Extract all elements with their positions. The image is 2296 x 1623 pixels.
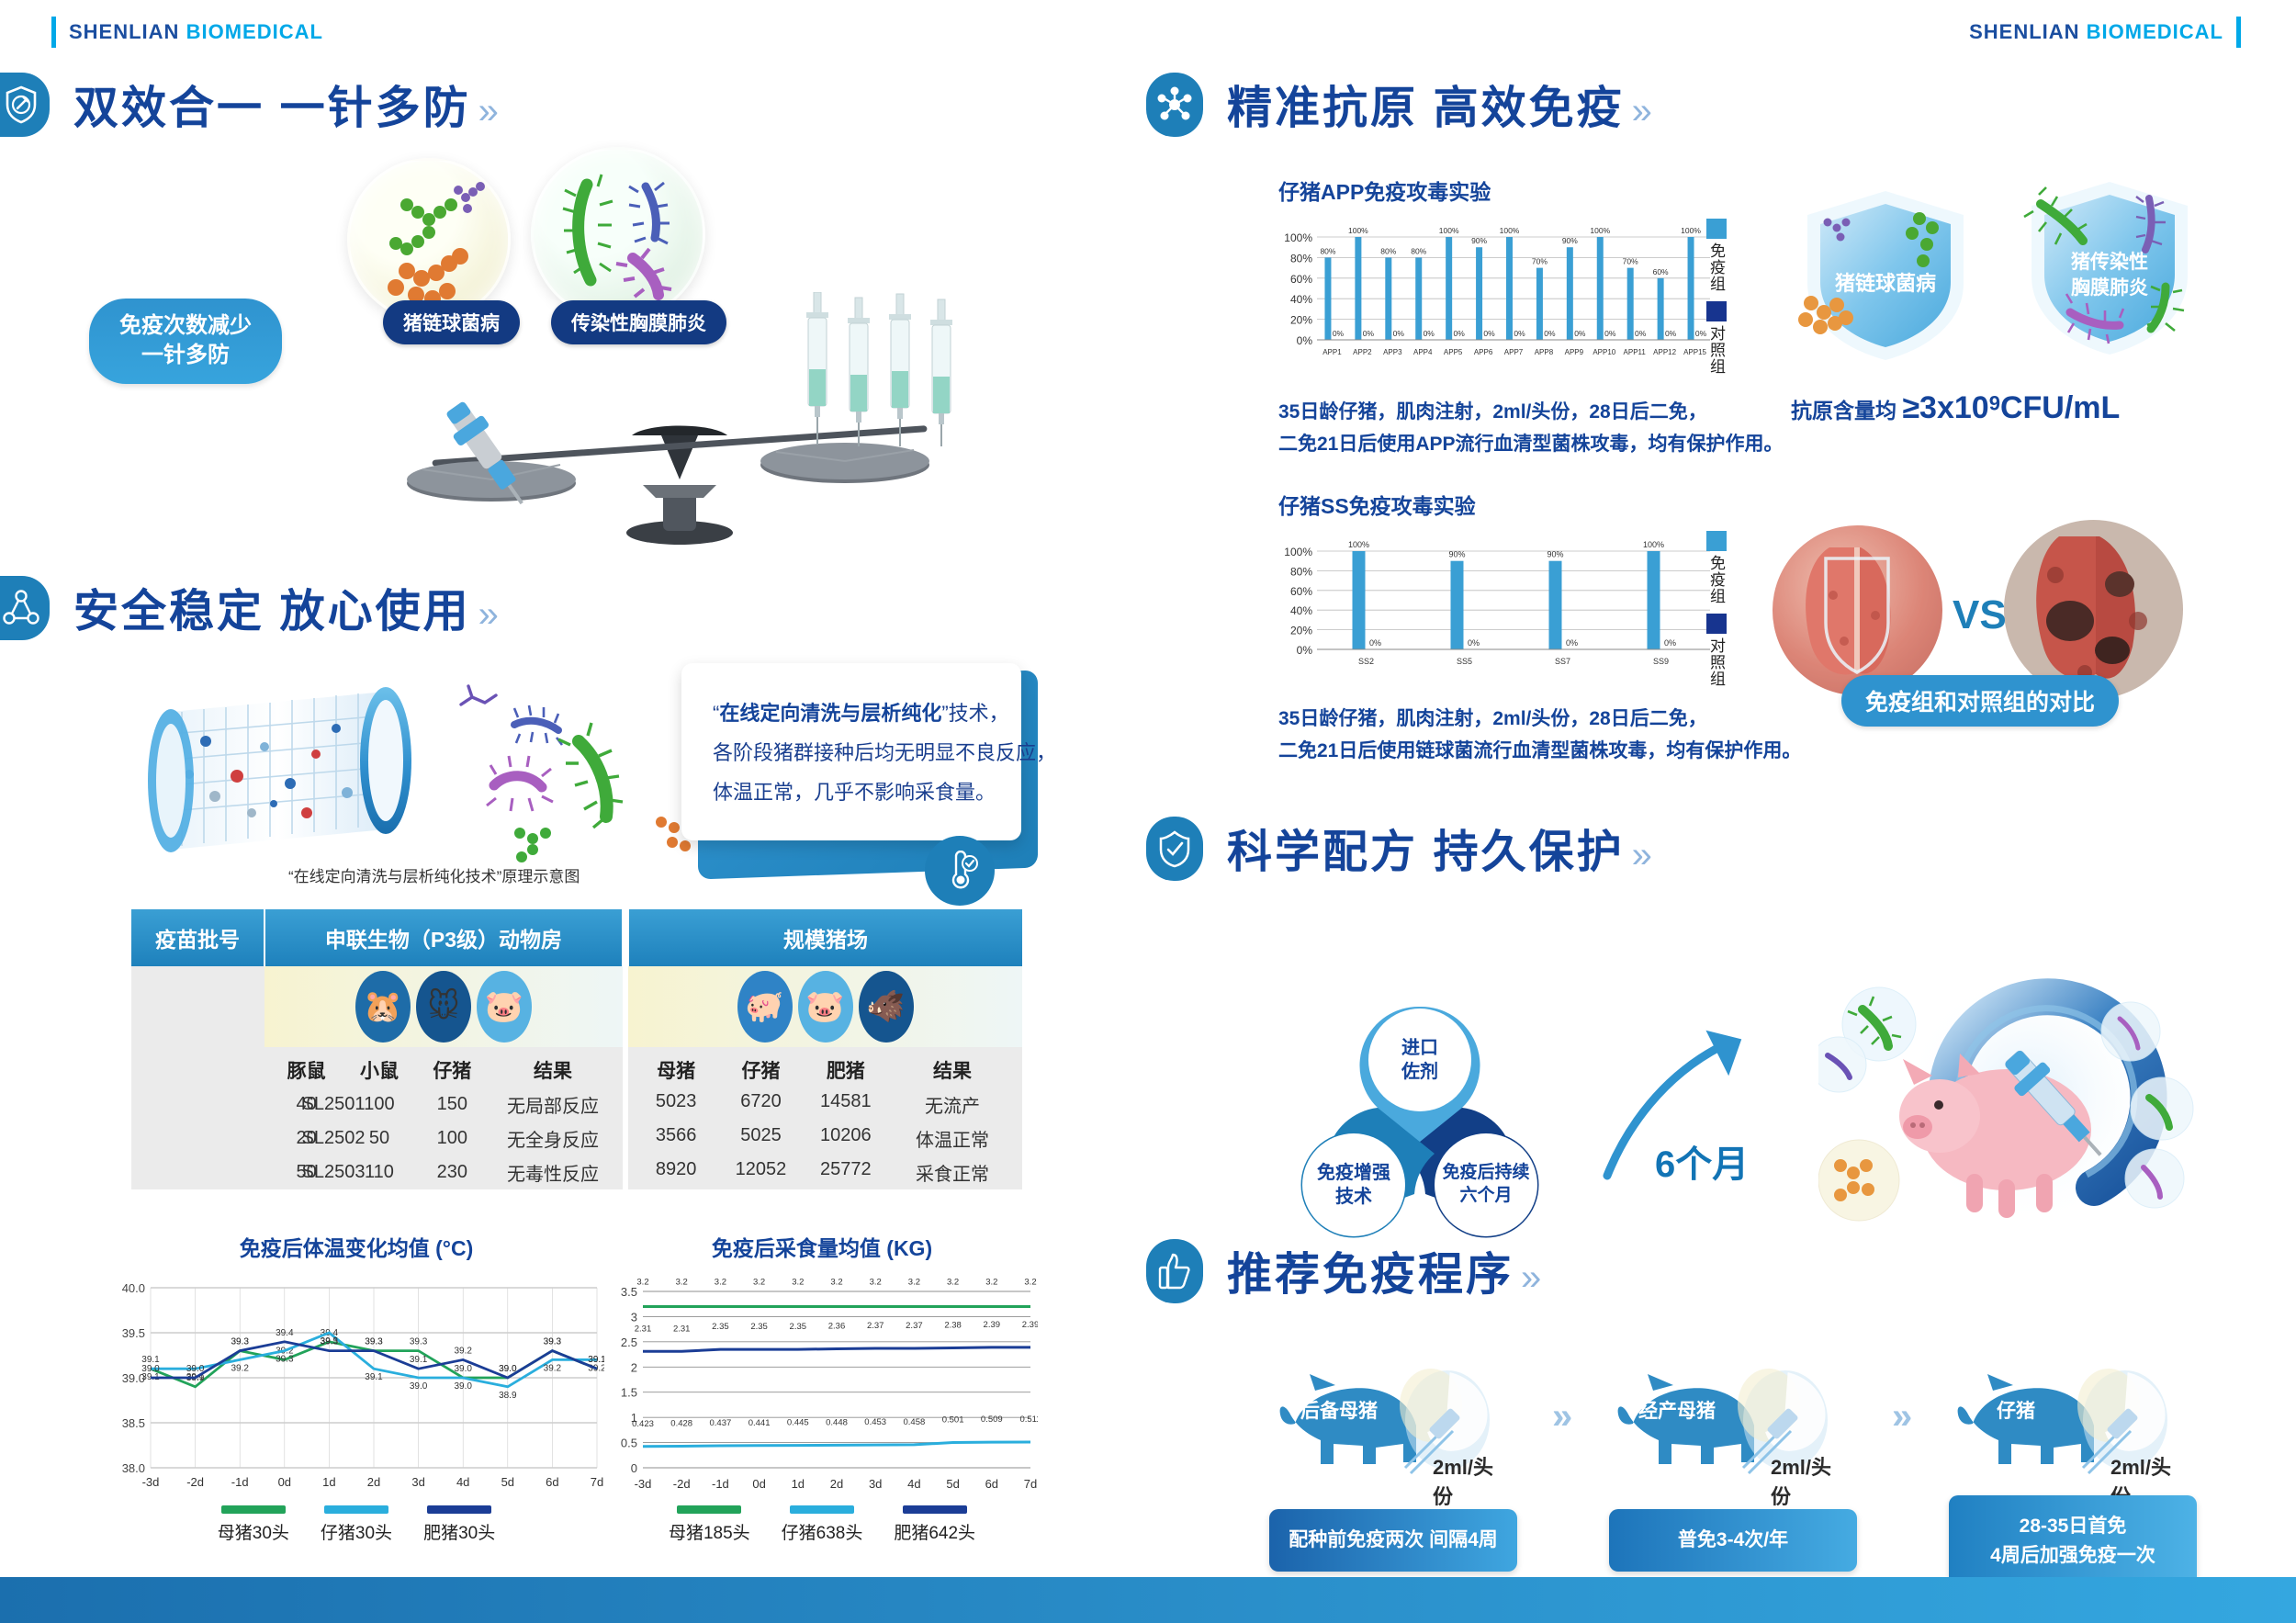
antigen-value: ≥3x10 bbox=[1902, 390, 1988, 425]
row-farm-0: 5023 6720 14581 无流产 bbox=[628, 1088, 1022, 1121]
svg-text:39.2: 39.2 bbox=[454, 1346, 472, 1356]
row-farm-2-2: 25772 bbox=[804, 1159, 888, 1186]
svg-text:2.35: 2.35 bbox=[790, 1322, 807, 1332]
formula-node-adjuvant-line2: 佐剂 bbox=[1401, 1060, 1438, 1084]
feed-chart: 免疫后采食量均值 (KG) 00.511.522.533.5-3d-2d-1d0… bbox=[606, 1231, 1038, 1544]
app-chart-plot: 0%20%40%60%80%100%APP180%0%APP2100%0%APP… bbox=[1278, 222, 1719, 360]
section-chevron-5: » bbox=[1521, 1257, 1544, 1298]
legend-item: 仔猪638头 bbox=[782, 1505, 863, 1544]
callout-quote-close: ” bbox=[941, 702, 948, 725]
svg-text:40.0: 40.0 bbox=[122, 1281, 145, 1295]
hero-badge-line1: 免疫次数减少 bbox=[113, 311, 258, 341]
row-body-2: SL2503 50 110 230 无毒性反应 bbox=[264, 1155, 623, 1189]
program-separator-1: » bbox=[1552, 1396, 1572, 1437]
section-title-text-1: 双效合一 一针多防 bbox=[73, 84, 471, 133]
callout-line-1: “在线定向清洗与层析纯化”技术， bbox=[713, 694, 990, 734]
section-header-antigen: 精准抗原 高效免疫» bbox=[1154, 72, 1655, 137]
table-header-batch: 疫苗批号 bbox=[131, 909, 264, 966]
svg-text:39.5: 39.5 bbox=[122, 1326, 145, 1340]
svg-text:0.423: 0.423 bbox=[632, 1419, 654, 1429]
program-step-1-pill-line1: 普免3-4次/年 bbox=[1618, 1526, 1848, 1555]
brand-name-part1-right: SHENLIAN bbox=[1969, 20, 2079, 43]
row-farm-result-2: 采食正常 bbox=[888, 1159, 1017, 1186]
svg-text:0%: 0% bbox=[1544, 329, 1556, 338]
svg-text:4d: 4d bbox=[907, 1477, 920, 1491]
feed-chart-plot: 00.511.522.533.5-3d-2d-1d0d1d2d3d4d5d6d7… bbox=[606, 1271, 1038, 1492]
mouse-icon: 🐭 bbox=[416, 971, 471, 1043]
table-header-row: 疫苗批号 申联生物（P3级）动物房 规模猪场 bbox=[131, 909, 1022, 966]
section-chevron-4: » bbox=[1632, 835, 1655, 875]
antigen-prefix: 抗原含量均 bbox=[1791, 399, 1896, 423]
svg-text:38.9: 38.9 bbox=[499, 1391, 517, 1401]
ss-chart-legend: 免疫组 对照组 bbox=[1705, 531, 1728, 687]
svg-text:90%: 90% bbox=[1547, 550, 1563, 559]
svg-text:0%: 0% bbox=[1604, 329, 1616, 338]
section-chevron-2: » bbox=[478, 594, 501, 635]
table-row: SL2501 40 100 150 无局部反应 5023 6720 14581 … bbox=[131, 1088, 1022, 1121]
svg-text:39.2: 39.2 bbox=[231, 1363, 249, 1373]
legend-item: 母猪185头 bbox=[669, 1505, 750, 1544]
svg-text:90%: 90% bbox=[1448, 550, 1465, 559]
farm-subheader-2: 肥猪 bbox=[804, 1056, 888, 1084]
svg-text:100%: 100% bbox=[1500, 226, 1520, 235]
formula-trefoil-diagram: 进口 佐剂 免疫增强 技术 免疫后持续 六个月 bbox=[1282, 981, 1558, 1261]
svg-text:60%: 60% bbox=[1290, 585, 1312, 598]
svg-text:39.1: 39.1 bbox=[588, 1355, 604, 1365]
svg-text:20%: 20% bbox=[1290, 314, 1312, 327]
section-title-antigen: 精准抗原 高效免疫» bbox=[1227, 72, 1655, 137]
lab-subheader-0: 豚鼠 bbox=[270, 1056, 343, 1084]
footer-bar bbox=[0, 1577, 2296, 1623]
ss-chart-title: 仔猪SS免疫攻毒实验 bbox=[1278, 489, 1756, 520]
svg-text:APP2: APP2 bbox=[1353, 348, 1372, 356]
program-step-piglet: 仔猪 2ml/头份 bbox=[1945, 1348, 2184, 1500]
lab-result-header: 结果 bbox=[489, 1056, 617, 1084]
shield-label-pleuro-2: 胸膜肺炎 bbox=[2071, 276, 2148, 299]
row-farm-0-2: 14581 bbox=[804, 1091, 888, 1118]
section-title-program: 推荐免疫程序» bbox=[1227, 1238, 1544, 1303]
row-batch-1: SL2502 bbox=[274, 1128, 393, 1149]
svg-text:0%: 0% bbox=[1664, 638, 1676, 648]
row-farm-result-1: 体温正常 bbox=[888, 1125, 1017, 1152]
ss-chart-plot: 0%20%40%60%80%100%SS2100%0%SS590%0%SS790… bbox=[1278, 536, 1719, 670]
svg-text:2d: 2d bbox=[367, 1475, 380, 1489]
svg-text:3.2: 3.2 bbox=[908, 1277, 920, 1287]
shield-pleuropneumonia: 猪传染性 胸膜肺炎 bbox=[2013, 175, 2206, 367]
row-farm-1-2: 10206 bbox=[804, 1125, 888, 1152]
svg-text:2.36: 2.36 bbox=[828, 1322, 846, 1332]
piglet-icon: 🐷 bbox=[477, 971, 532, 1043]
svg-text:0.441: 0.441 bbox=[748, 1418, 771, 1428]
svg-text:-1d: -1d bbox=[231, 1475, 249, 1489]
row-farm-1-1: 5025 bbox=[718, 1125, 803, 1152]
svg-text:0.501: 0.501 bbox=[942, 1415, 964, 1426]
svg-text:APP15: APP15 bbox=[1683, 348, 1706, 356]
svg-text:80%: 80% bbox=[1290, 252, 1312, 265]
svg-text:SS2: SS2 bbox=[1358, 657, 1374, 666]
row-batch-0: SL2501 bbox=[274, 1094, 393, 1115]
svg-text:3.2: 3.2 bbox=[830, 1277, 842, 1287]
diagram-caption: “在线定向清洗与层析纯化技术”原理示意图 bbox=[288, 863, 580, 886]
shield-check-icon bbox=[1146, 817, 1203, 881]
svg-text:60%: 60% bbox=[1653, 267, 1669, 276]
row-farm-1-0: 3566 bbox=[634, 1125, 718, 1152]
svg-text:0.437: 0.437 bbox=[710, 1418, 732, 1428]
row-lab-2-2: 230 bbox=[416, 1162, 489, 1183]
svg-text:SS5: SS5 bbox=[1457, 657, 1472, 666]
legend-swatch-fattening-feed bbox=[903, 1505, 967, 1514]
svg-text:6d: 6d bbox=[546, 1475, 558, 1489]
legend-item: 肥猪30头 bbox=[423, 1505, 495, 1544]
svg-text:1.5: 1.5 bbox=[621, 1386, 637, 1400]
brand-bar-right bbox=[2236, 17, 2241, 48]
lab-subheader-1: 小鼠 bbox=[343, 1056, 415, 1084]
svg-text:3d: 3d bbox=[869, 1477, 882, 1491]
svg-text:3.2: 3.2 bbox=[715, 1277, 726, 1287]
legend-label-control-app: 对照组 bbox=[1705, 325, 1728, 375]
svg-text:APP11: APP11 bbox=[1624, 348, 1647, 356]
legend-label-2: 肥猪30头 bbox=[423, 1519, 495, 1544]
svg-text:APP12: APP12 bbox=[1653, 348, 1676, 356]
row-farm-result-0: 无流产 bbox=[888, 1091, 1017, 1118]
temperature-chart: 免疫后体温变化均值 (°C) 38.038.539.039.540.0-3d-2… bbox=[108, 1231, 604, 1544]
formula-node-duration-line2: 六个月 bbox=[1459, 1185, 1512, 1208]
svg-text:100%: 100% bbox=[1348, 540, 1369, 549]
svg-text:20%: 20% bbox=[1290, 625, 1312, 637]
svg-text:80%: 80% bbox=[1380, 246, 1396, 255]
antigen-content-line: 抗原含量均 ≥3x109CFU/mL bbox=[1791, 390, 2120, 426]
legend-swatch-sow-feed bbox=[677, 1505, 741, 1514]
svg-text:100%: 100% bbox=[1643, 540, 1664, 549]
svg-text:39.3: 39.3 bbox=[321, 1337, 339, 1347]
svg-text:39.3: 39.3 bbox=[276, 1355, 294, 1365]
row-lab-result-1: 无全身反应 bbox=[489, 1125, 617, 1152]
brand-name-part2: BIOMEDICAL bbox=[186, 20, 323, 43]
table-row: SL2502 20 50 100 无全身反应 3566 5025 10206 体… bbox=[131, 1121, 1022, 1155]
legend-item: 肥猪642头 bbox=[894, 1505, 975, 1544]
section-title-safety: 安全稳定 放心使用» bbox=[73, 575, 501, 640]
legend-swatch-piglet bbox=[324, 1505, 388, 1514]
program-step-2-animal: 仔猪 bbox=[1997, 1396, 2035, 1424]
shield-label-pleuro-1: 猪传染性 bbox=[2070, 251, 2148, 273]
formula-node-enhancement-line2: 技术 bbox=[1335, 1185, 1372, 1209]
svg-text:-1d: -1d bbox=[712, 1477, 729, 1491]
svg-text:3.2: 3.2 bbox=[947, 1277, 959, 1287]
svg-text:3.2: 3.2 bbox=[753, 1277, 765, 1287]
svg-text:APP8: APP8 bbox=[1535, 348, 1554, 356]
svg-text:APP6: APP6 bbox=[1474, 348, 1493, 356]
lab-subheaders-cell: 豚鼠 小鼠 仔猪 结果 bbox=[264, 1047, 623, 1088]
svg-text:100%: 100% bbox=[1348, 226, 1368, 235]
row-lab-result-2: 无毒性反应 bbox=[489, 1159, 617, 1186]
table-row: SL2503 50 110 230 无毒性反应 8920 12052 25772… bbox=[131, 1155, 1022, 1189]
svg-text:APP5: APP5 bbox=[1444, 348, 1463, 356]
row-farm-2: 8920 12052 25772 采食正常 bbox=[628, 1155, 1022, 1189]
svg-text:39.0: 39.0 bbox=[186, 1364, 205, 1374]
svg-text:5d: 5d bbox=[501, 1475, 514, 1489]
hero-badge: 免疫次数减少 一针多防 bbox=[89, 299, 282, 384]
lab-subheader-2: 仔猪 bbox=[416, 1056, 489, 1084]
table-header-lab: 申联生物（P3级）动物房 bbox=[264, 909, 623, 966]
svg-text:0.511: 0.511 bbox=[1019, 1414, 1038, 1425]
temperature-chart-legend: 母猪30头 仔猪30头 肥猪30头 bbox=[108, 1505, 604, 1544]
svg-text:39.1: 39.1 bbox=[365, 1372, 383, 1382]
svg-text:70%: 70% bbox=[1532, 257, 1548, 266]
antigen-node-icon bbox=[1146, 73, 1203, 137]
svg-text:-3d: -3d bbox=[635, 1477, 652, 1491]
feed-chart-legend: 母猪185头 仔猪638头 肥猪642头 bbox=[606, 1505, 1038, 1544]
row-lab-result-0: 无局部反应 bbox=[489, 1091, 617, 1118]
svg-text:39.0: 39.0 bbox=[454, 1364, 472, 1374]
svg-text:3.5: 3.5 bbox=[621, 1285, 637, 1299]
svg-text:39.4: 39.4 bbox=[276, 1328, 294, 1338]
svg-text:APP7: APP7 bbox=[1504, 348, 1524, 356]
section-title-dual-effect: 双效合一 一针多防» bbox=[73, 72, 501, 137]
svg-text:39.0: 39.0 bbox=[454, 1381, 472, 1392]
section-title-text-3: 精准抗原 高效免疫 bbox=[1227, 84, 1625, 133]
farm-animal-icons: 🐖 🐷 🐗 bbox=[628, 966, 1022, 1047]
callout-line-3: 体温正常，几乎不影响采食量。 bbox=[713, 773, 990, 813]
program-step-gilt: 后备母猪 2ml/头份 bbox=[1267, 1348, 1506, 1500]
program-step-0-pill-line1: 配种前免疫两次 间隔4周 bbox=[1278, 1526, 1508, 1555]
svg-text:6d: 6d bbox=[985, 1477, 998, 1491]
svg-text:0: 0 bbox=[631, 1461, 637, 1475]
poster-page: SHENLIAN BIOMEDICAL SHENLIAN BIOMEDICAL … bbox=[0, 0, 2296, 1623]
svg-text:80%: 80% bbox=[1320, 246, 1335, 255]
svg-text:90%: 90% bbox=[1562, 236, 1578, 245]
program-step-sow: 经产母猪 2ml/头份 bbox=[1605, 1348, 1844, 1500]
program-step-1-animal: 经产母猪 bbox=[1638, 1396, 1716, 1424]
svg-text:APP1: APP1 bbox=[1322, 348, 1342, 356]
table-lab-icons-cell: 🐹 🐭 🐷 bbox=[264, 966, 623, 1047]
section-chevron-3: » bbox=[1632, 91, 1655, 131]
program-step-0-pill: 配种前免疫两次 间隔4周 bbox=[1269, 1509, 1517, 1572]
row-farm-2-1: 12052 bbox=[718, 1159, 803, 1186]
svg-text:0%: 0% bbox=[1454, 329, 1466, 338]
callout-line-2: 各阶段猪群接种后均无明显不良反应， bbox=[713, 734, 990, 773]
program-step-0-animal: 后备母猪 bbox=[1300, 1396, 1378, 1424]
svg-text:0d: 0d bbox=[752, 1477, 765, 1491]
legend-label-immunized-app: 免疫组 bbox=[1705, 242, 1728, 292]
svg-text:3.2: 3.2 bbox=[985, 1277, 997, 1287]
legend-label-f1: 仔猪638头 bbox=[782, 1519, 863, 1544]
svg-text:APP3: APP3 bbox=[1383, 348, 1402, 356]
lung-photo-control bbox=[2004, 520, 2183, 699]
farm-result-header: 结果 bbox=[888, 1056, 1017, 1084]
svg-text:APP9: APP9 bbox=[1565, 348, 1584, 356]
svg-text:SS9: SS9 bbox=[1653, 657, 1669, 666]
app-chart-title: 仔猪APP免疫攻毒实验 bbox=[1278, 175, 1756, 206]
legend-swatch-control-ss bbox=[1706, 614, 1727, 634]
legend-label-f0: 母猪185头 bbox=[669, 1519, 750, 1544]
brand-logo-left: SHENLIAN BIOMEDICAL bbox=[51, 17, 323, 48]
section-header-dual-effect: 双效合一 一针多防» bbox=[0, 72, 501, 137]
legend-item: 母猪30头 bbox=[218, 1505, 289, 1544]
formula-duration-label: 6个月 bbox=[1655, 1134, 1749, 1188]
brand-name-part1: SHENLIAN bbox=[69, 20, 179, 43]
legend-label-control-ss: 对照组 bbox=[1705, 637, 1728, 687]
shield-label-streptococcus: 猪链球菌病 bbox=[1835, 272, 1936, 295]
callout-highlight: 在线定向清洗与层析纯化 bbox=[719, 702, 941, 725]
section-title-text-5: 推荐免疫程序 bbox=[1227, 1250, 1514, 1300]
callout-tail: 技术， bbox=[949, 702, 1009, 725]
svg-text:90%: 90% bbox=[1471, 236, 1487, 245]
row-farm-1: 3566 5025 10206 体温正常 bbox=[628, 1121, 1022, 1155]
program-step-1-pill: 普免3-4次/年 bbox=[1609, 1509, 1857, 1572]
row-lab-1-2: 100 bbox=[416, 1128, 489, 1149]
legend-swatch-fattening bbox=[427, 1505, 491, 1514]
program-step-1-dose: 2ml/头份 bbox=[1771, 1451, 1844, 1510]
sow-icon: 🐖 bbox=[737, 971, 793, 1043]
svg-text:80%: 80% bbox=[1290, 565, 1312, 578]
svg-text:2d: 2d bbox=[830, 1477, 843, 1491]
svg-text:3.2: 3.2 bbox=[636, 1277, 648, 1287]
svg-text:APP4: APP4 bbox=[1413, 348, 1433, 356]
svg-text:2.35: 2.35 bbox=[712, 1322, 729, 1332]
shield-syringe-icon bbox=[0, 73, 50, 137]
filtration-cartridge-illustration bbox=[127, 675, 494, 877]
svg-text:0%: 0% bbox=[1297, 644, 1313, 657]
svg-text:39.2: 39.2 bbox=[544, 1363, 562, 1373]
legend-label-f2: 肥猪642头 bbox=[894, 1519, 975, 1544]
svg-text:40%: 40% bbox=[1290, 604, 1312, 617]
svg-text:0.445: 0.445 bbox=[787, 1418, 809, 1428]
svg-text:7d: 7d bbox=[591, 1475, 603, 1489]
svg-text:3.2: 3.2 bbox=[1024, 1277, 1036, 1287]
section-title-text-2: 安全稳定 放心使用 bbox=[73, 587, 471, 637]
pig-protection-illustration bbox=[1818, 969, 2204, 1240]
svg-text:4d: 4d bbox=[456, 1475, 469, 1489]
svg-text:0.428: 0.428 bbox=[670, 1419, 692, 1429]
thumbs-up-icon bbox=[1146, 1239, 1203, 1303]
svg-text:0%: 0% bbox=[1333, 329, 1345, 338]
petri-dish-streptococcus bbox=[347, 158, 511, 321]
brand-text-left: SHENLIAN BIOMEDICAL bbox=[69, 20, 323, 44]
section-title-text-4: 科学配方 持久保护 bbox=[1227, 828, 1625, 877]
svg-text:2.31: 2.31 bbox=[673, 1324, 691, 1334]
svg-text:0%: 0% bbox=[1297, 334, 1313, 347]
svg-text:0%: 0% bbox=[1665, 329, 1677, 338]
svg-text:SS7: SS7 bbox=[1555, 657, 1570, 666]
svg-text:3.2: 3.2 bbox=[870, 1277, 882, 1287]
formula-node-enhancement-line1: 免疫增强 bbox=[1317, 1161, 1390, 1185]
svg-text:3: 3 bbox=[631, 1310, 637, 1324]
row-body-1: SL2502 20 50 100 无全身反应 bbox=[264, 1121, 623, 1155]
section-header-program: 推荐免疫程序» bbox=[1154, 1238, 1544, 1303]
app-chart-legend: 免疫组 对照组 bbox=[1705, 219, 1728, 375]
svg-text:5d: 5d bbox=[946, 1477, 959, 1491]
svg-text:2.39: 2.39 bbox=[1022, 1320, 1038, 1330]
svg-text:2.35: 2.35 bbox=[750, 1322, 768, 1332]
antigen-unit: CFU/mL bbox=[2000, 390, 2120, 425]
feed-chart-title: 免疫后采食量均值 (KG) bbox=[606, 1231, 1038, 1262]
svg-text:39.0: 39.0 bbox=[141, 1364, 160, 1374]
formula-node-duration-line1: 免疫后持续 bbox=[1442, 1162, 1529, 1185]
svg-text:100%: 100% bbox=[1284, 546, 1312, 558]
legend-label-immunized-ss: 免疫组 bbox=[1705, 555, 1728, 604]
safety-callout: “在线定向清洗与层析纯化”技术， 各阶段猪群接种后均无明显不良反应， 体温正常，… bbox=[681, 663, 1021, 840]
svg-text:100%: 100% bbox=[1681, 226, 1701, 235]
piglet-icon-farm: 🐷 bbox=[798, 971, 853, 1043]
brand-logo-right: SHENLIAN BIOMEDICAL bbox=[1969, 17, 2241, 48]
svg-text:40%: 40% bbox=[1290, 293, 1312, 306]
svg-text:7d: 7d bbox=[1024, 1477, 1037, 1491]
section-title-formula: 科学配方 持久保护» bbox=[1227, 816, 1655, 881]
table-batch-icon-cell bbox=[131, 966, 264, 1189]
row-lab-0-2: 150 bbox=[416, 1094, 489, 1115]
farm-subheader-1: 仔猪 bbox=[718, 1056, 803, 1084]
svg-text:0%: 0% bbox=[1483, 329, 1495, 338]
vs-label: VS bbox=[1953, 592, 2007, 638]
row-farm-0-1: 6720 bbox=[718, 1091, 803, 1118]
ss-challenge-chart: 仔猪SS免疫攻毒实验 0%20%40%60%80%100%SS2100%0%SS… bbox=[1278, 489, 1756, 674]
svg-text:-2d: -2d bbox=[673, 1477, 691, 1491]
row-body-0: SL2501 40 100 150 无局部反应 bbox=[264, 1088, 623, 1121]
dish-label-pleuropneumonia: 传染性胸膜肺炎 bbox=[551, 300, 726, 344]
brand-name-part2-right: BIOMEDICAL bbox=[2087, 20, 2223, 43]
temperature-chart-plot: 38.038.539.039.540.0-3d-2d-1d0d1d2d3d4d5… bbox=[108, 1271, 604, 1492]
svg-text:0%: 0% bbox=[1514, 329, 1525, 338]
table-subheader-row: 豚鼠 小鼠 仔猪 结果 母猪 仔猪 肥猪 结果 bbox=[131, 1047, 1022, 1088]
svg-text:0%: 0% bbox=[1635, 329, 1647, 338]
legend-swatch-immunized-app bbox=[1706, 219, 1727, 239]
antigen-exponent: 9 bbox=[1989, 391, 2000, 414]
lung-comparison-caption: 免疫组和对照组的对比 bbox=[1841, 675, 2119, 727]
legend-label-1: 仔猪30头 bbox=[321, 1519, 392, 1544]
svg-text:APP10: APP10 bbox=[1593, 348, 1615, 356]
brand-bar-left bbox=[51, 17, 56, 48]
svg-text:100%: 100% bbox=[1590, 226, 1610, 235]
table-icon-row: 🐹 🐭 🐷 🐖 🐷 🐗 bbox=[131, 966, 1022, 1047]
formula-node-adjuvant-line1: 进口 bbox=[1401, 1036, 1438, 1060]
svg-text:2.5: 2.5 bbox=[621, 1336, 637, 1349]
app-chart-note: 35日龄仔猪，肌肉注射，2ml/头份，28日后二免， 二免21日后使用APP流行… bbox=[1278, 397, 1784, 460]
legend-item: 仔猪30头 bbox=[321, 1505, 392, 1544]
svg-text:0.458: 0.458 bbox=[904, 1417, 926, 1427]
row-farm-2-0: 8920 bbox=[634, 1159, 718, 1186]
legend-swatch-control-app bbox=[1706, 301, 1727, 321]
dish-label-streptococcus: 猪链球菌病 bbox=[383, 300, 520, 344]
formula-node-enhancement: 免疫增强 技术 bbox=[1302, 1133, 1405, 1236]
farm-subheader-0: 母猪 bbox=[634, 1056, 718, 1084]
lab-animal-icons: 🐹 🐭 🐷 bbox=[264, 966, 623, 1047]
svg-text:3.2: 3.2 bbox=[676, 1277, 688, 1287]
fattening-pig-icon: 🐗 bbox=[859, 971, 914, 1043]
svg-text:0%: 0% bbox=[1369, 638, 1381, 648]
row-farm-0-0: 5023 bbox=[634, 1091, 718, 1118]
program-step-0-dose: 2ml/头份 bbox=[1433, 1451, 1506, 1510]
svg-text:2.37: 2.37 bbox=[906, 1321, 923, 1331]
svg-text:0%: 0% bbox=[1393, 329, 1405, 338]
farm-subheaders-cell: 母猪 仔猪 肥猪 结果 bbox=[628, 1047, 1022, 1088]
program-step-2-pill-line1: 28-35日首免 bbox=[1958, 1512, 2188, 1541]
app-challenge-chart: 仔猪APP免疫攻毒实验 0%20%40%60%80%100%APP180%0%A… bbox=[1278, 175, 1756, 365]
formula-node-adjuvant: 进口 佐剂 bbox=[1368, 1009, 1471, 1111]
svg-text:0.5: 0.5 bbox=[621, 1437, 637, 1450]
svg-text:0.509: 0.509 bbox=[981, 1414, 1003, 1425]
program-step-2-pill-line2: 4周后加强免疫一次 bbox=[1958, 1541, 2188, 1571]
svg-text:0.453: 0.453 bbox=[864, 1417, 886, 1427]
svg-text:0%: 0% bbox=[1363, 329, 1375, 338]
svg-text:39.3: 39.3 bbox=[365, 1337, 383, 1347]
svg-text:100%: 100% bbox=[1284, 231, 1312, 244]
svg-text:0d: 0d bbox=[278, 1475, 291, 1489]
svg-text:2: 2 bbox=[631, 1360, 637, 1374]
svg-text:-2d: -2d bbox=[186, 1475, 204, 1489]
svg-text:39.1: 39.1 bbox=[410, 1355, 428, 1365]
svg-text:38.0: 38.0 bbox=[122, 1461, 145, 1475]
svg-text:38.5: 38.5 bbox=[122, 1416, 145, 1430]
